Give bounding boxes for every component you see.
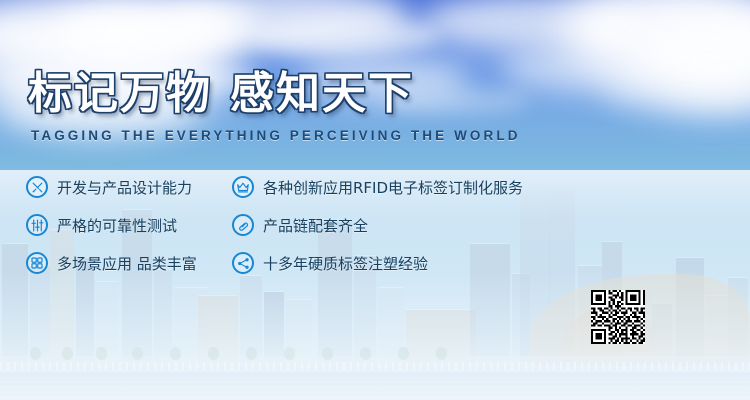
crown-icon bbox=[232, 176, 254, 198]
feature-list-left: 开发与产品设计能力 严格的可靠性测试 bbox=[26, 168, 197, 282]
page-title: 标记万物感知天下 bbox=[28, 72, 414, 116]
feature-label: 严格的可靠性测试 bbox=[57, 215, 177, 236]
feature-item: 开发与产品设计能力 bbox=[26, 168, 197, 206]
share-icon bbox=[232, 252, 254, 274]
feature-item: 产品链配套齐全 bbox=[232, 206, 523, 244]
tools-icon bbox=[26, 176, 48, 198]
feature-label: 产品链配套齐全 bbox=[263, 215, 368, 236]
headline-part-2: 感知天下 bbox=[230, 69, 414, 118]
headline-part-1: 标记万物 bbox=[28, 69, 212, 118]
link-icon bbox=[232, 214, 254, 236]
content-layer: 标记万物感知天下 TAGGING THE EVERYTHING PERCEIVI… bbox=[0, 0, 750, 400]
grid-icon bbox=[26, 252, 48, 274]
promotional-banner: 标记万物感知天下 TAGGING THE EVERYTHING PERCEIVI… bbox=[0, 0, 750, 400]
feature-item: 多场景应用 品类丰富 bbox=[26, 244, 197, 282]
feature-list-right: 各种创新应用RFID电子标签订制化服务 产品链配套齐全 bbox=[232, 168, 523, 282]
qr-code-image bbox=[591, 290, 645, 344]
qr-code[interactable] bbox=[591, 290, 645, 344]
feature-item: 各种创新应用RFID电子标签订制化服务 bbox=[232, 168, 523, 206]
subtitle: TAGGING THE EVERYTHING PERCEIVING THE WO… bbox=[31, 128, 521, 143]
sliders-icon bbox=[26, 214, 48, 236]
feature-label: 十多年硬质标签注塑经验 bbox=[263, 253, 428, 274]
feature-label: 多场景应用 品类丰富 bbox=[57, 253, 197, 274]
feature-label: 开发与产品设计能力 bbox=[57, 177, 192, 198]
feature-item: 十多年硬质标签注塑经验 bbox=[232, 244, 523, 282]
feature-item: 严格的可靠性测试 bbox=[26, 206, 197, 244]
feature-label: 各种创新应用RFID电子标签订制化服务 bbox=[263, 177, 523, 198]
